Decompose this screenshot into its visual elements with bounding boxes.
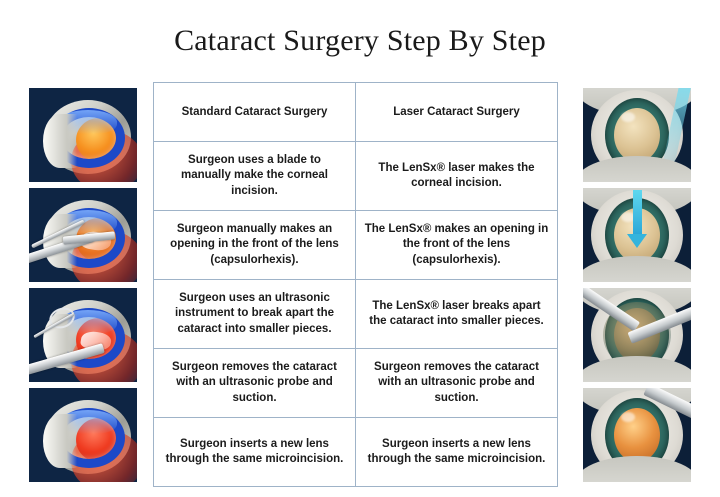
cell-laser-step-4: Surgeon removes the cataract with an ult… xyxy=(356,349,558,418)
eye-cross-section-new-lens-image xyxy=(29,388,137,482)
table-header-row: Standard Cataract Surgery Laser Cataract… xyxy=(154,83,558,142)
cornea-edge xyxy=(43,114,77,168)
eye-cross-section-ultrasonic-probe-image xyxy=(29,288,137,382)
page-title: Cataract Surgery Step By Step xyxy=(0,24,720,58)
eye-front-view-laser-incision-image xyxy=(583,88,691,182)
cornea-edge xyxy=(43,414,77,468)
right-image-rail xyxy=(583,88,691,488)
cell-standard-step-1: Surgeon uses a blade to manually make th… xyxy=(154,142,356,211)
table-row: Surgeon inserts a new lens through the s… xyxy=(154,418,558,487)
laser-arrow-icon xyxy=(633,190,642,234)
table-row: Surgeon uses a blade to manually make th… xyxy=(154,142,558,211)
table-row: Surgeon removes the cataract with an ult… xyxy=(154,349,558,418)
eye-front-view-laser-capsulotomy-image xyxy=(583,188,691,282)
column-header-laser: Laser Cataract Surgery xyxy=(356,83,558,142)
cell-laser-step-5: Surgeon inserts a new lens through the s… xyxy=(356,418,558,487)
table-row: Surgeon uses an ultrasonic instrument to… xyxy=(154,280,558,349)
cell-standard-step-2: Surgeon manually makes an opening in the… xyxy=(154,211,356,280)
cell-laser-step-3: The LenSx® laser breaks apart the catara… xyxy=(356,280,558,349)
cell-standard-step-3: Surgeon uses an ultrasonic instrument to… xyxy=(154,280,356,349)
eye-front-view-lens-insertion-image xyxy=(583,388,691,482)
eye-cross-section-intact-lens-image xyxy=(29,88,137,182)
cell-standard-step-4: Surgeon removes the cataract with an ult… xyxy=(154,349,356,418)
cataract-surgery-comparison-table: Standard Cataract Surgery Laser Cataract… xyxy=(153,82,558,487)
specular-highlight xyxy=(621,412,635,422)
cell-standard-step-5: Surgeon inserts a new lens through the s… xyxy=(154,418,356,487)
specular-highlight xyxy=(621,112,635,122)
column-header-standard: Standard Cataract Surgery xyxy=(154,83,356,142)
cell-laser-step-2: The LenSx® makes an opening in the front… xyxy=(356,211,558,280)
eye-front-view-phaco-removal-image xyxy=(583,288,691,382)
eye-cross-section-blade-incision-image xyxy=(29,188,137,282)
table-row: Surgeon manually makes an opening in the… xyxy=(154,211,558,280)
cell-laser-step-1: The LenSx® laser makes the corneal incis… xyxy=(356,142,558,211)
left-image-rail xyxy=(29,88,137,488)
